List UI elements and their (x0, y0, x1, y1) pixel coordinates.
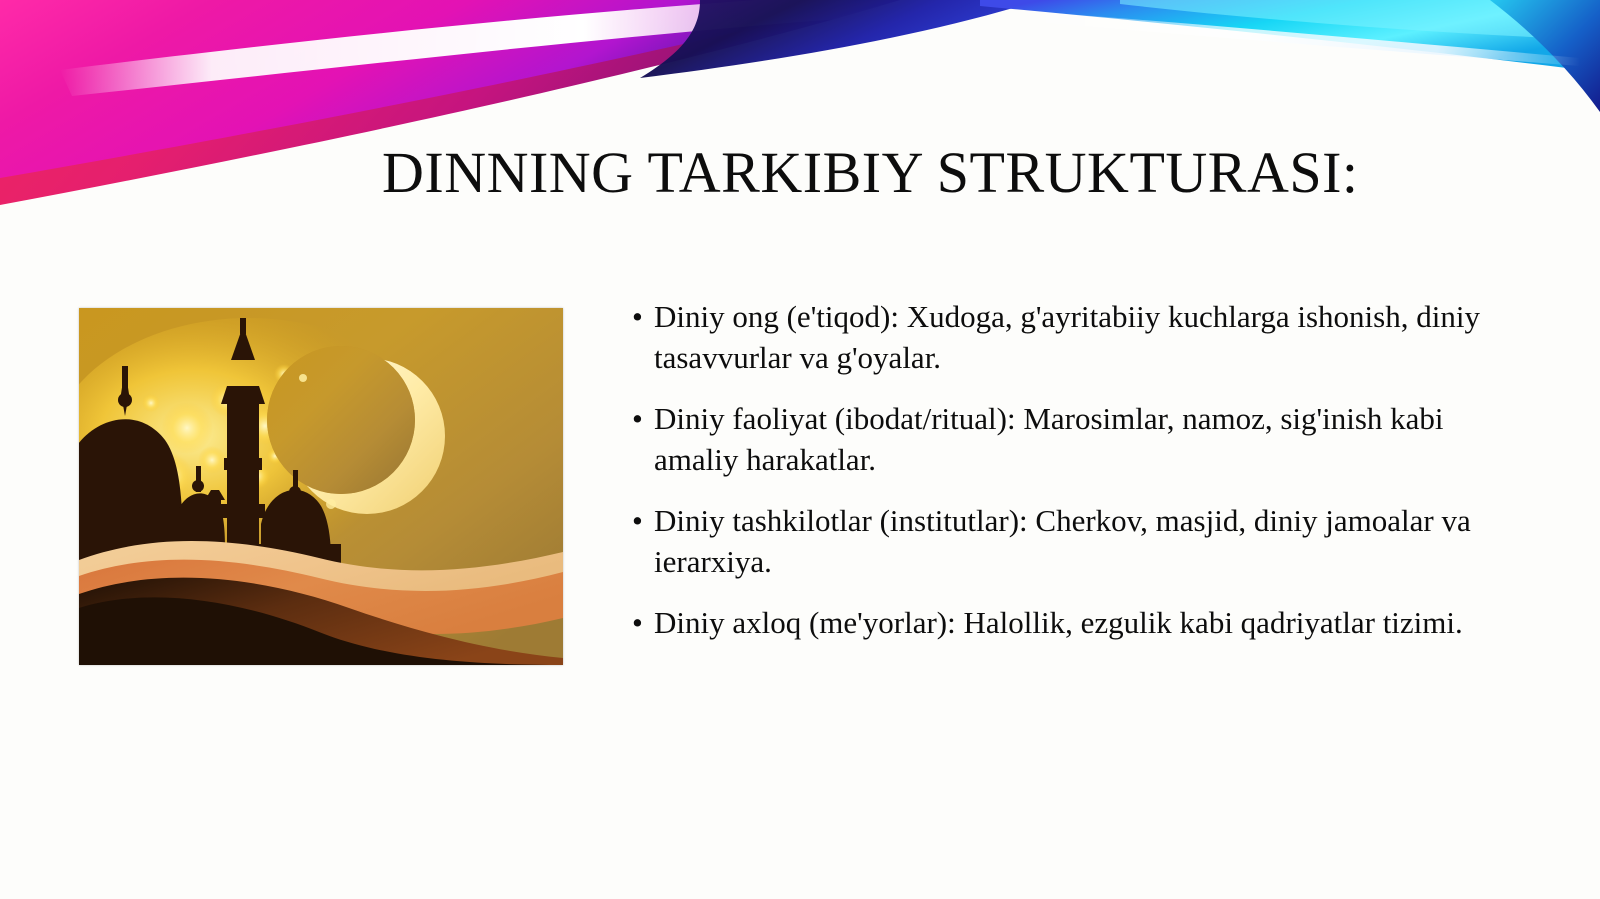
bullet-marker-icon: • (632, 500, 643, 541)
presentation-slide: DINNING TARKIBIY STRUKTURASI: (0, 0, 1600, 899)
content-bullet-list: • Diniy ong (e'tiqod): Xudoga, g'ayritab… (622, 296, 1534, 643)
bullet-marker-icon: • (632, 602, 643, 643)
list-item: • Diniy ong (e'tiqod): Xudoga, g'ayritab… (622, 296, 1534, 378)
bullet-text-diniy-faoliyat: Diniy faoliyat (ibodat/ritual): Marosiml… (654, 398, 1534, 480)
bullet-marker-icon: • (632, 296, 643, 337)
mosque-crescent-illustration (79, 308, 563, 665)
bullet-marker-icon: • (632, 398, 643, 439)
bullet-text-diniy-tashkilotlar: Diniy tashkilotlar (institutlar): Cherko… (654, 500, 1534, 582)
bullet-text-diniy-axloq: Diniy axloq (me'yorlar): Halollik, ezgul… (654, 602, 1534, 643)
page-title: DINNING TARKIBIY STRUKTURASI: (382, 140, 1502, 207)
bullet-text-diniy-ong: Diniy ong (e'tiqod): Xudoga, g'ayritabii… (654, 296, 1534, 378)
list-item: • Diniy axloq (me'yorlar): Halollik, ezg… (622, 602, 1534, 643)
list-item: • Diniy tashkilotlar (institutlar): Cher… (622, 500, 1534, 582)
list-item: • Diniy faoliyat (ibodat/ritual): Marosi… (622, 398, 1534, 480)
